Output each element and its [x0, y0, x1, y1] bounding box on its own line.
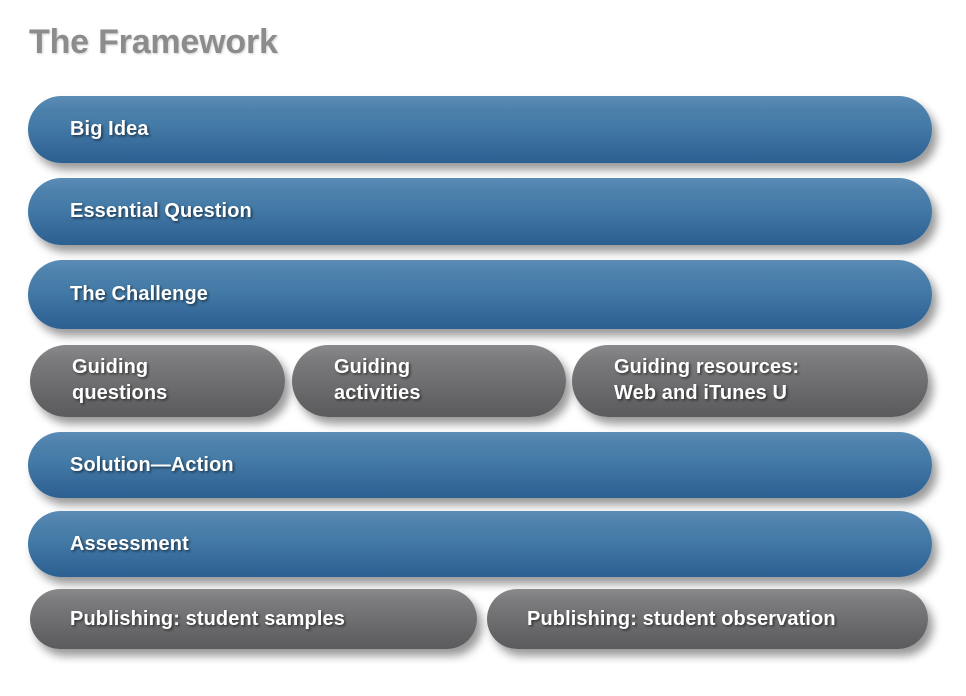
- framework-bar-guiding-activities[interactable]: Guiding activities: [292, 345, 566, 417]
- framework-bar-label: Solution—Action: [70, 453, 234, 477]
- framework-bar-label: Guiding questions: [72, 355, 167, 406]
- framework-bar-guiding-resources[interactable]: Guiding resources: Web and iTunes U: [572, 345, 928, 417]
- framework-bar-big-idea[interactable]: Big Idea: [28, 96, 932, 163]
- framework-bar-label: Guiding activities: [334, 355, 421, 406]
- framework-slide: The Framework Big Idea Essential Questio…: [0, 0, 966, 696]
- framework-bar-label: Big Idea: [70, 117, 149, 141]
- framework-bar-label: Publishing: student observation: [527, 607, 836, 631]
- framework-bar-label: The Challenge: [70, 282, 208, 306]
- framework-bar-label: Guiding resources: Web and iTunes U: [614, 355, 799, 406]
- framework-bar-essential-question[interactable]: Essential Question: [28, 178, 932, 245]
- framework-bar-guiding-questions[interactable]: Guiding questions: [30, 345, 285, 417]
- framework-bar-publishing-student-observation[interactable]: Publishing: student observation: [487, 589, 928, 649]
- framework-bar-label: Essential Question: [70, 199, 252, 223]
- framework-bar-label: Assessment: [70, 532, 189, 556]
- framework-bar-publishing-student-samples[interactable]: Publishing: student samples: [30, 589, 477, 649]
- framework-bar-label: Publishing: student samples: [70, 607, 345, 631]
- page-title: The Framework: [29, 23, 278, 62]
- framework-bar-solution-action[interactable]: Solution—Action: [28, 432, 932, 498]
- framework-bar-assessment[interactable]: Assessment: [28, 511, 932, 577]
- framework-bar-the-challenge[interactable]: The Challenge: [28, 260, 932, 329]
